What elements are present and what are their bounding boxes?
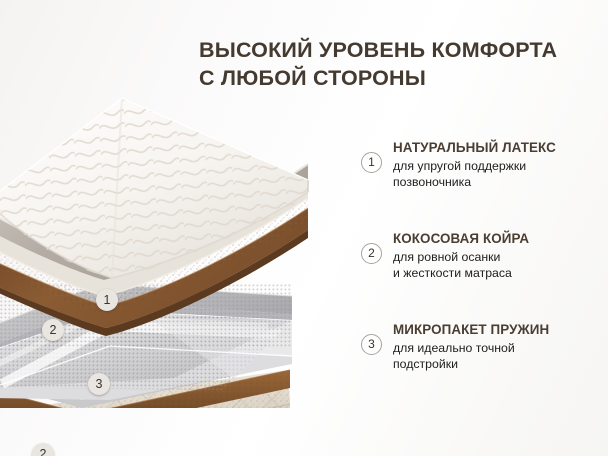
poster-canvas: Высокий уровень комфорта с любой стороны (0, 0, 608, 456)
mattress-cutaway-illustration: 1 2 3 2 (0, 88, 332, 408)
feature-badge-1: 1 (361, 152, 382, 173)
feature-item-springs: 3 Микропакет пружин для идеально точной … (361, 323, 601, 375)
feature-title-coir: Кокосовая койра (393, 232, 601, 247)
feature-list: 1 Натуральный латекс для упругой поддерж… (361, 141, 601, 375)
illustration-callout-2: 2 (42, 319, 64, 341)
feature-badge-2: 2 (361, 243, 382, 264)
feature-desc-coir: для ровной осанки и жесткости матраса (393, 249, 601, 282)
illustration-callout-3: 3 (88, 373, 110, 395)
illustration-callout-1: 1 (96, 289, 118, 311)
illustration-callout-2-bottom: 2 (32, 443, 54, 456)
feature-title-latex: Натуральный латекс (393, 141, 601, 156)
page-title: Высокий уровень комфорта с любой стороны (199, 36, 599, 93)
feature-item-latex: 1 Натуральный латекс для упругой поддерж… (361, 141, 601, 193)
feature-item-coir: 2 Кокосовая койра для ровной осанки и же… (361, 232, 601, 284)
feature-desc-latex: для упругой поддержки позвоночника (393, 158, 601, 191)
feature-badge-3: 3 (361, 334, 382, 355)
feature-desc-springs: для идеально точной подстройки (393, 340, 601, 373)
feature-title-springs: Микропакет пружин (393, 323, 601, 338)
